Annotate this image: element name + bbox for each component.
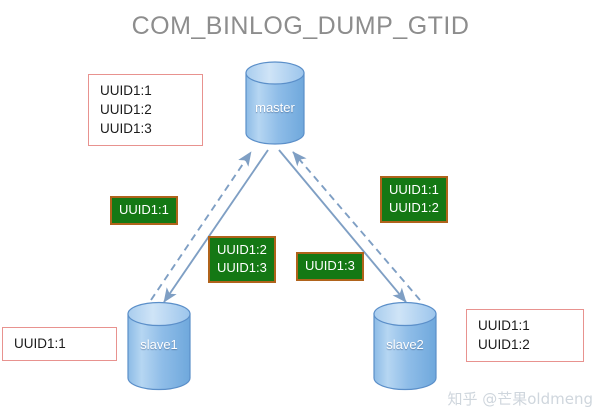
watermark: 知乎 @芒果oldmeng: [447, 388, 593, 409]
red-box-line: UUID1:2: [100, 100, 193, 119]
red-box-master-gtid-set: UUID1:1 UUID1:2 UUID1:3: [88, 74, 203, 146]
green-box-slave1-request: UUID1:1: [110, 196, 178, 225]
red-box-line: UUID1:1: [100, 81, 193, 100]
red-box-line: UUID1:3: [100, 119, 193, 138]
red-box-slave2-gtid-set: UUID1:1 UUID1:2: [466, 309, 584, 362]
red-box-line: UUID1:1: [14, 334, 107, 353]
green-box-master-to-slave2-send: UUID1:3: [296, 252, 364, 281]
green-box-line: UUID1:1: [119, 201, 169, 219]
node-slave1-label-wrap: slave1: [128, 337, 190, 355]
red-box-line: UUID1:1: [478, 316, 574, 335]
node-slave1-label: slave1: [128, 337, 190, 352]
node-slave2-label-wrap: slave2: [374, 337, 436, 355]
green-box-master-to-slave1-send: UUID1:2 UUID1:3: [208, 236, 276, 283]
green-box-line: UUID1:1: [389, 181, 439, 199]
green-box-slave2-request: UUID1:1 UUID1:2: [380, 176, 448, 223]
red-box-line: UUID1:2: [478, 335, 574, 354]
node-master-label-wrap: master: [246, 100, 304, 118]
node-master-label: master: [246, 100, 304, 115]
green-box-line: UUID1:2: [389, 199, 439, 217]
diagram-canvas: COM_BINLOG_DUMP_GTID: [0, 0, 601, 415]
green-box-line: UUID1:3: [217, 259, 267, 277]
green-box-line: UUID1:3: [305, 257, 355, 275]
node-slave2-label: slave2: [374, 337, 436, 352]
red-box-slave1-gtid-set: UUID1:1: [2, 327, 117, 361]
green-box-line: UUID1:2: [217, 241, 267, 259]
